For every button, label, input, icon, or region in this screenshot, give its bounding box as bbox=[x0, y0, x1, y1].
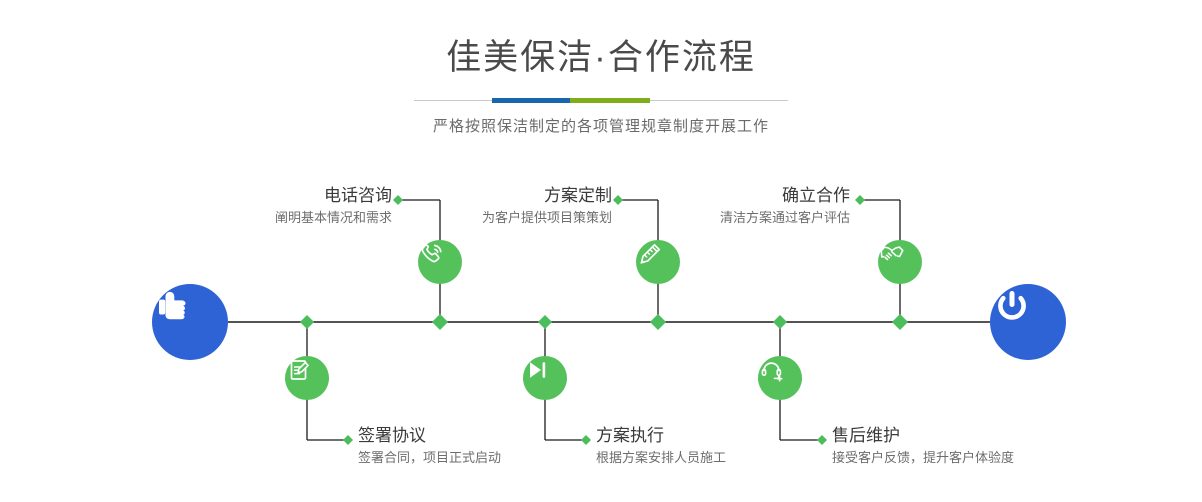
step-node-1[interactable] bbox=[418, 240, 462, 284]
step-label-6: 售后维护 接受客户反馈，提升客户体验度 bbox=[832, 426, 1082, 467]
step-node-5[interactable] bbox=[878, 240, 922, 284]
step-node-4[interactable] bbox=[523, 356, 567, 400]
step-desc-2: 签署合同，项目正式启动 bbox=[358, 448, 578, 467]
step-desc-6: 接受客户反馈，提升客户体验度 bbox=[832, 448, 1082, 467]
label-diamonds bbox=[343, 195, 865, 445]
step-label-4: 方案执行 根据方案安排人员施工 bbox=[596, 426, 816, 467]
step-label-1: 电话咨询 阐明基本情况和需求 bbox=[220, 186, 392, 227]
spine-diamond-1 bbox=[432, 314, 448, 330]
spine-diamond-6 bbox=[773, 315, 787, 329]
step-title-4: 方案执行 bbox=[596, 426, 816, 446]
timeline-end-node[interactable] bbox=[990, 284, 1066, 360]
step-node-6[interactable] bbox=[758, 356, 802, 400]
timeline-start-node[interactable] bbox=[152, 284, 228, 360]
spine-diamond-5 bbox=[892, 314, 908, 330]
step-desc-1: 阐明基本情况和需求 bbox=[220, 208, 392, 227]
label-diamond-4 bbox=[581, 435, 591, 445]
step-desc-5: 清洁方案通过客户评估 bbox=[684, 208, 850, 227]
label-diamond-2 bbox=[343, 435, 353, 445]
step-node-3[interactable] bbox=[636, 240, 680, 284]
step-desc-4: 根据方案安排人员施工 bbox=[596, 448, 816, 467]
label-diamond-1 bbox=[393, 195, 403, 205]
step-title-5: 确立合作 bbox=[684, 186, 850, 206]
step-title-6: 售后维护 bbox=[832, 426, 1082, 446]
label-diamond-6 bbox=[817, 435, 827, 445]
spine-diamond-2 bbox=[300, 315, 314, 329]
spine-diamond-3 bbox=[650, 314, 666, 330]
process-timeline: 电话咨询 阐明基本情况和需求 方案定制 为客户提供项目策策划 确立合作 清洁方案… bbox=[0, 0, 1202, 502]
step-label-3: 方案定制 为客户提供项目策策划 bbox=[442, 186, 612, 227]
step-title-1: 电话咨询 bbox=[220, 186, 392, 206]
step-title-2: 签署协议 bbox=[358, 426, 578, 446]
step-desc-3: 为客户提供项目策策划 bbox=[442, 208, 612, 227]
label-diamond-3 bbox=[613, 195, 623, 205]
step-title-3: 方案定制 bbox=[442, 186, 612, 206]
label-diamond-5 bbox=[855, 195, 865, 205]
spine-diamond-4 bbox=[538, 315, 552, 329]
step-label-5: 确立合作 清洁方案通过客户评估 bbox=[684, 186, 850, 227]
step-label-2: 签署协议 签署合同，项目正式启动 bbox=[358, 426, 578, 467]
step-node-2[interactable] bbox=[285, 356, 329, 400]
